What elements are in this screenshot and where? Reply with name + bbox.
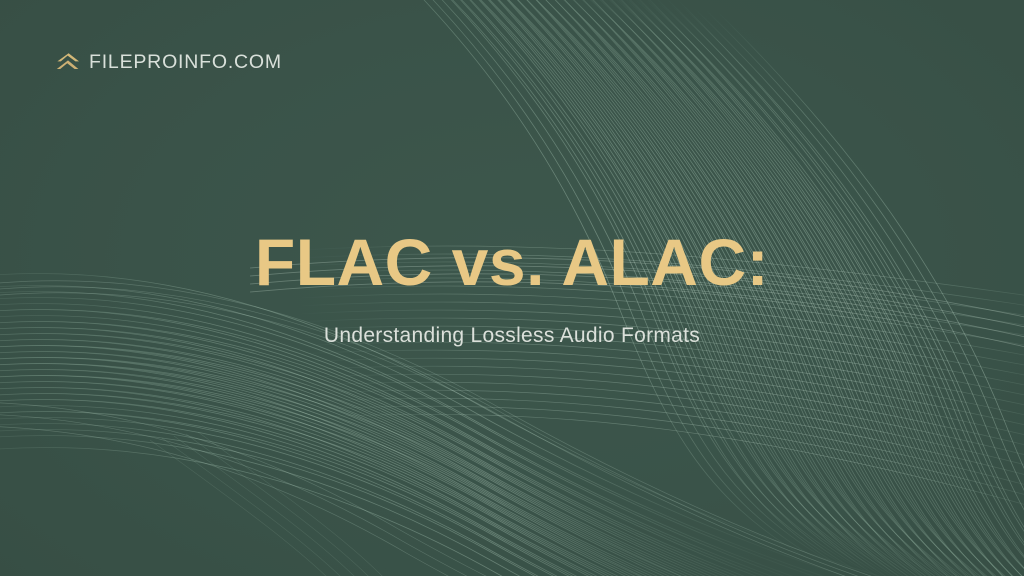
hero-subtitle: Understanding Lossless Audio Formats [324, 297, 700, 348]
promo-banner: FILEPROINFO.COM FLAC vs. ALAC: Understan… [0, 0, 1024, 576]
hero-title: FLAC vs. ALAC: [255, 228, 769, 297]
hero-text-block: FLAC vs. ALAC: Understanding Lossless Au… [0, 0, 1024, 576]
